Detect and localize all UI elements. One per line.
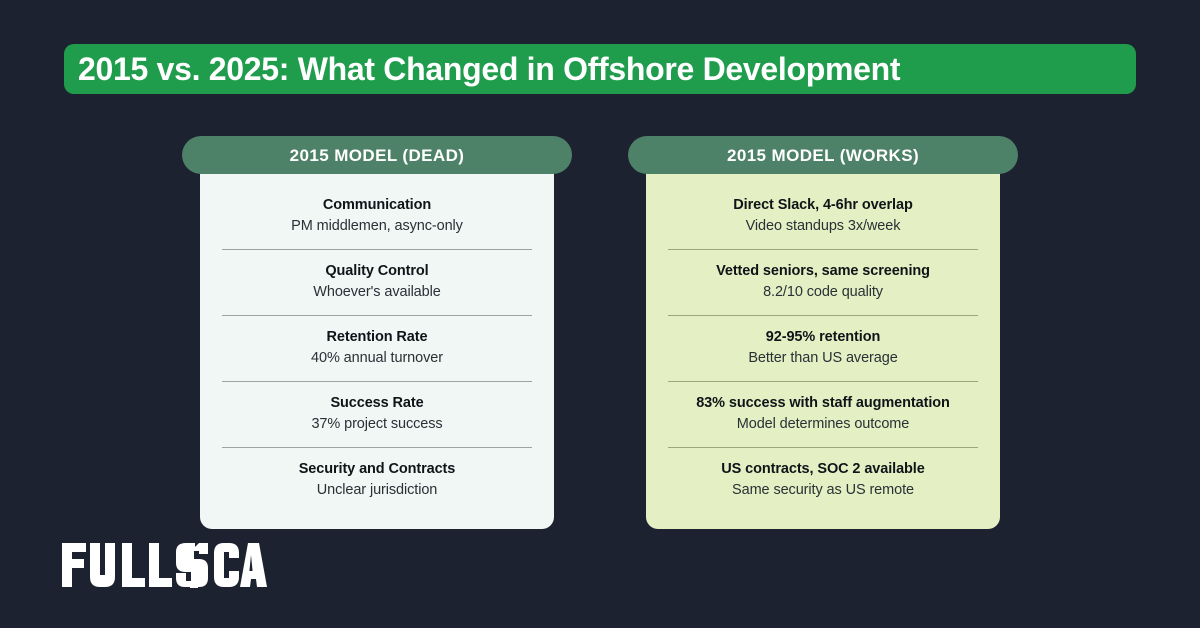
list-item: US contracts, SOC 2 available Same secur…: [668, 447, 978, 513]
row-title: Vetted seniors, same screening: [668, 262, 978, 280]
list-item: Communication PM middlemen, async-only: [222, 184, 532, 249]
row-subtitle: Whoever's available: [222, 283, 532, 302]
column-header-label: 2015 MODEL (DEAD): [290, 147, 465, 164]
row-subtitle: Unclear jurisdiction: [222, 481, 532, 500]
row-title: 92-95% retention: [668, 328, 978, 346]
list-item: Success Rate 37% project success: [222, 381, 532, 447]
title-banner: 2015 vs. 2025: What Changed in Offshore …: [64, 44, 1136, 94]
column-body-dead: Communication PM middlemen, async-only Q…: [200, 170, 554, 529]
column-body-works: Direct Slack, 4-6hr overlap Video standu…: [646, 170, 1000, 529]
list-item: Direct Slack, 4-6hr overlap Video standu…: [668, 184, 978, 249]
row-subtitle: Model determines outcome: [668, 415, 978, 434]
row-subtitle: 8.2/10 code quality: [668, 283, 978, 302]
row-title: Success Rate: [222, 394, 532, 412]
row-title: Quality Control: [222, 262, 532, 280]
column-dead: 2015 MODEL (DEAD) Communication PM middl…: [182, 136, 572, 529]
page-title: 2015 vs. 2025: What Changed in Offshore …: [78, 53, 900, 85]
row-subtitle: 37% project success: [222, 415, 532, 434]
list-item: 92-95% retention Better than US average: [668, 315, 978, 381]
column-header-dead: 2015 MODEL (DEAD): [182, 136, 572, 174]
list-item: Quality Control Whoever's available: [222, 249, 532, 315]
full-scale-wordmark-icon: [62, 542, 268, 588]
row-title: Communication: [222, 196, 532, 214]
row-title: Direct Slack, 4-6hr overlap: [668, 196, 978, 214]
row-subtitle: PM middlemen, async-only: [222, 217, 532, 236]
list-item: Security and Contracts Unclear jurisdict…: [222, 447, 532, 513]
row-title: US contracts, SOC 2 available: [668, 460, 978, 478]
column-header-label: 2015 MODEL (WORKS): [727, 147, 919, 164]
row-subtitle: Better than US average: [668, 349, 978, 368]
list-item: Retention Rate 40% annual turnover: [222, 315, 532, 381]
comparison-columns: 2015 MODEL (DEAD) Communication PM middl…: [0, 136, 1200, 529]
row-title: 83% success with staff augmentation: [668, 394, 978, 412]
list-item: 83% success with staff augmentation Mode…: [668, 381, 978, 447]
brand-logo: [62, 538, 268, 592]
row-title: Security and Contracts: [222, 460, 532, 478]
column-works: 2015 MODEL (WORKS) Direct Slack, 4-6hr o…: [628, 136, 1018, 529]
row-subtitle: Video standups 3x/week: [668, 217, 978, 236]
column-header-works: 2015 MODEL (WORKS): [628, 136, 1018, 174]
list-item: Vetted seniors, same screening 8.2/10 co…: [668, 249, 978, 315]
row-subtitle: Same security as US remote: [668, 481, 978, 500]
row-title: Retention Rate: [222, 328, 532, 346]
row-subtitle: 40% annual turnover: [222, 349, 532, 368]
